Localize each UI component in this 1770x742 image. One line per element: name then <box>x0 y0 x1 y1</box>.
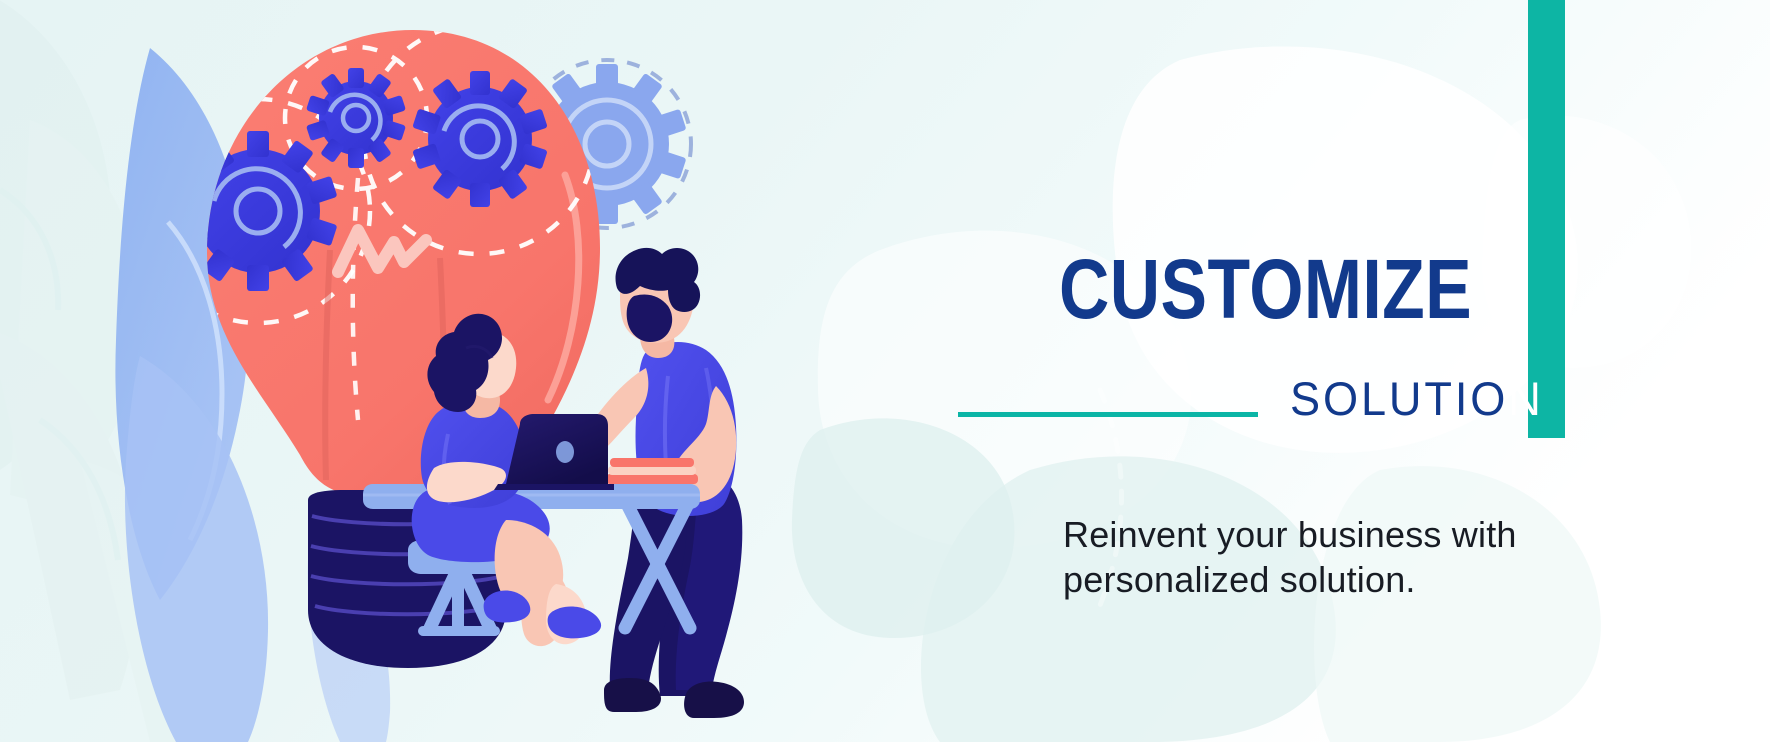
laptop-base <box>494 484 614 490</box>
customize-solution-banner: CUSTOMIZE SOLUTION Reinvent your busines… <box>0 0 1770 742</box>
laptop-logo <box>556 441 574 463</box>
desk-books <box>606 458 698 484</box>
teal-accent-bar <box>1528 0 1565 438</box>
teal-accent-rule <box>958 412 1258 417</box>
banner-illustration <box>0 0 1770 742</box>
